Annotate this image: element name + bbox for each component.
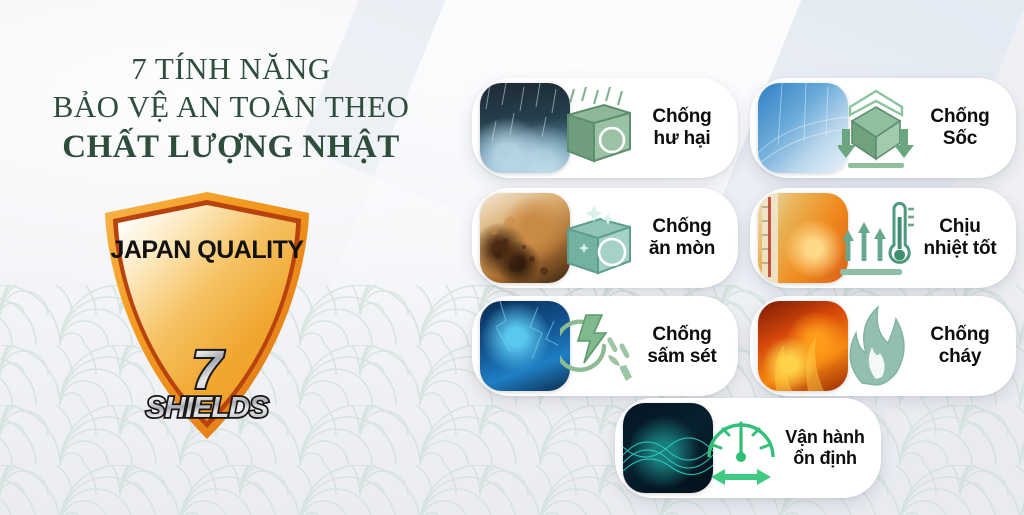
fire-photo-thumbnail — [758, 301, 848, 391]
rain-photo-thumbnail — [480, 83, 570, 173]
card-label-line-1: Chống — [652, 106, 711, 127]
bolt-plug-icon — [560, 303, 636, 389]
badge-number: 7 — [192, 340, 225, 400]
headline-line-2: BẢO VỆ AN TOÀN THEO — [0, 88, 462, 126]
card-label-line-1: Chống — [930, 324, 989, 345]
badge-bottom-text: SHIELDS — [146, 392, 269, 424]
feature-card-anti-corrosion[interactable]: Chống ăn mòn — [472, 188, 738, 288]
rust-photo-thumbnail — [480, 193, 570, 283]
card-label: Chống sấm sét — [636, 324, 738, 369]
card-label-line-2: nhiệt tốt — [923, 238, 996, 259]
card-label-line-1: Chống — [652, 324, 711, 345]
feature-card-fire-resistance[interactable]: Chống cháy — [750, 296, 1016, 396]
headline: 7 TÍNH NĂNG BẢO VỆ AN TOÀN THEO CHẤT LƯỢ… — [0, 50, 462, 168]
card-label: Vận hành ổn định — [779, 427, 881, 469]
card-label: Chịu nhiệt tốt — [914, 216, 1016, 261]
card-label-line-2: ổn định — [793, 448, 857, 468]
card-label-line-1: Chống — [652, 216, 711, 237]
card-label: Chống hư hại — [636, 106, 738, 151]
card-label-line-2: Sốc — [943, 128, 977, 149]
card-label-line-2: ăn mòn — [649, 238, 715, 259]
badge-top-text: JAPAN QUALITY — [110, 236, 304, 264]
infographic-stage: 7 TÍNH NĂNG BẢO VỆ AN TOÀN THEO CHẤT LƯỢ… — [0, 0, 1024, 515]
impact-box-arrows-icon — [838, 85, 914, 171]
outdoor-unit-sparkle-icon — [560, 195, 636, 281]
flame-icon — [838, 303, 914, 389]
japan-quality-shield-badge: JAPAN QUALITY 7 SHIELDS — [96, 188, 318, 443]
card-label-line-2: sấm sét — [647, 346, 716, 367]
feature-card-lightning-protection[interactable]: Chống sấm sét — [472, 296, 738, 396]
feature-card-anti-damage[interactable]: Chống hư hại — [472, 78, 738, 178]
lightning-photo-thumbnail — [480, 301, 570, 391]
feature-card-stable-operation[interactable]: Vận hành ổn định — [615, 398, 881, 498]
card-label-line-1: Vận hành — [785, 427, 864, 447]
card-label-line-2: hư hại — [654, 128, 711, 149]
waveform-photo-thumbnail — [623, 403, 713, 493]
card-label-line-1: Chống — [930, 106, 989, 127]
card-label: Chống cháy — [914, 324, 1016, 369]
heat-thermometer-photo-thumbnail — [758, 193, 848, 283]
headline-line-3: CHẤT LƯỢNG NHẬT — [0, 127, 462, 168]
card-label-line-1: Chịu — [939, 216, 980, 237]
card-label: Chống ăn mòn — [636, 216, 738, 261]
feature-card-heat-resistance[interactable]: Chịu nhiệt tốt — [750, 188, 1016, 288]
gauge-arrows-icon — [703, 405, 779, 491]
card-label: Chống Sốc — [914, 106, 1016, 151]
thermometer-up-arrows-icon — [838, 195, 914, 281]
headline-line-1: 7 TÍNH NĂNG — [0, 50, 462, 88]
blue-gradient-photo-thumbnail — [758, 83, 848, 173]
card-label-line-2: cháy — [939, 346, 982, 367]
outdoor-unit-rain-icon — [560, 85, 636, 171]
feature-card-anti-shock[interactable]: Chống Sốc — [750, 78, 1016, 178]
